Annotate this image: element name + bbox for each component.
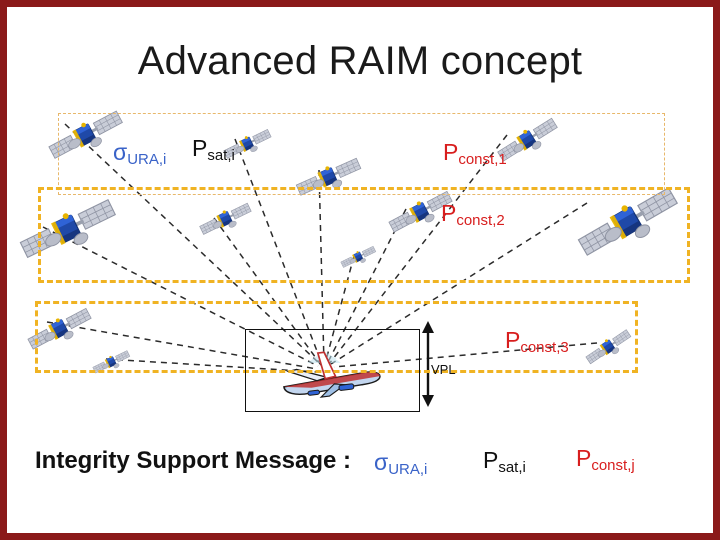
label-sigma-ura-base: σ xyxy=(113,139,127,165)
ism-sigma-base: σ xyxy=(374,449,388,475)
label-p-const-3: Pconst,3 xyxy=(505,329,569,355)
label-p-const-1-sub: const,1 xyxy=(458,151,506,168)
label-p-sat: Psat,i xyxy=(192,137,235,163)
ism-label-p-const-j: Pconst,j xyxy=(576,447,635,473)
label-p-const-3-sub: const,3 xyxy=(520,339,568,356)
label-p-sat-sub: sat,i xyxy=(207,147,235,164)
label-p-const-1-base: P xyxy=(443,139,458,165)
ism-pc-sub: const,j xyxy=(591,457,634,474)
label-sigma-ura-sub: URA,i xyxy=(127,151,166,168)
integrity-support-message-row: Integrity Support Message : σURA,i Psat,… xyxy=(31,444,703,486)
user-position-box xyxy=(245,329,420,412)
ism-title: Integrity Support Message : xyxy=(35,447,351,475)
label-vpl: VPL xyxy=(431,362,456,377)
label-p-const-1: Pconst,1 xyxy=(443,141,507,167)
page-title: Advanced RAIM concept xyxy=(7,39,713,84)
ism-label-sigma-ura: σURA,i xyxy=(374,451,427,477)
ism-psat-sub: sat,i xyxy=(498,459,526,476)
label-p-const-2: Pconst,2 xyxy=(441,202,505,228)
ism-pc-base: P xyxy=(576,445,591,471)
label-sigma-ura: σURA,i xyxy=(113,141,166,167)
ism-label-p-sat: Psat,i xyxy=(483,449,526,475)
slide-frame: Advanced RAIM concept σURA,i Psat,i Pcon… xyxy=(0,0,720,540)
label-p-const-3-base: P xyxy=(505,327,520,353)
ism-psat-base: P xyxy=(483,447,498,473)
label-p-const-2-base: P xyxy=(441,200,456,226)
constellation-box-2 xyxy=(38,187,690,283)
label-p-const-2-sub: const,2 xyxy=(456,212,504,229)
label-p-sat-base: P xyxy=(192,135,207,161)
ism-sigma-sub: URA,i xyxy=(388,461,427,478)
